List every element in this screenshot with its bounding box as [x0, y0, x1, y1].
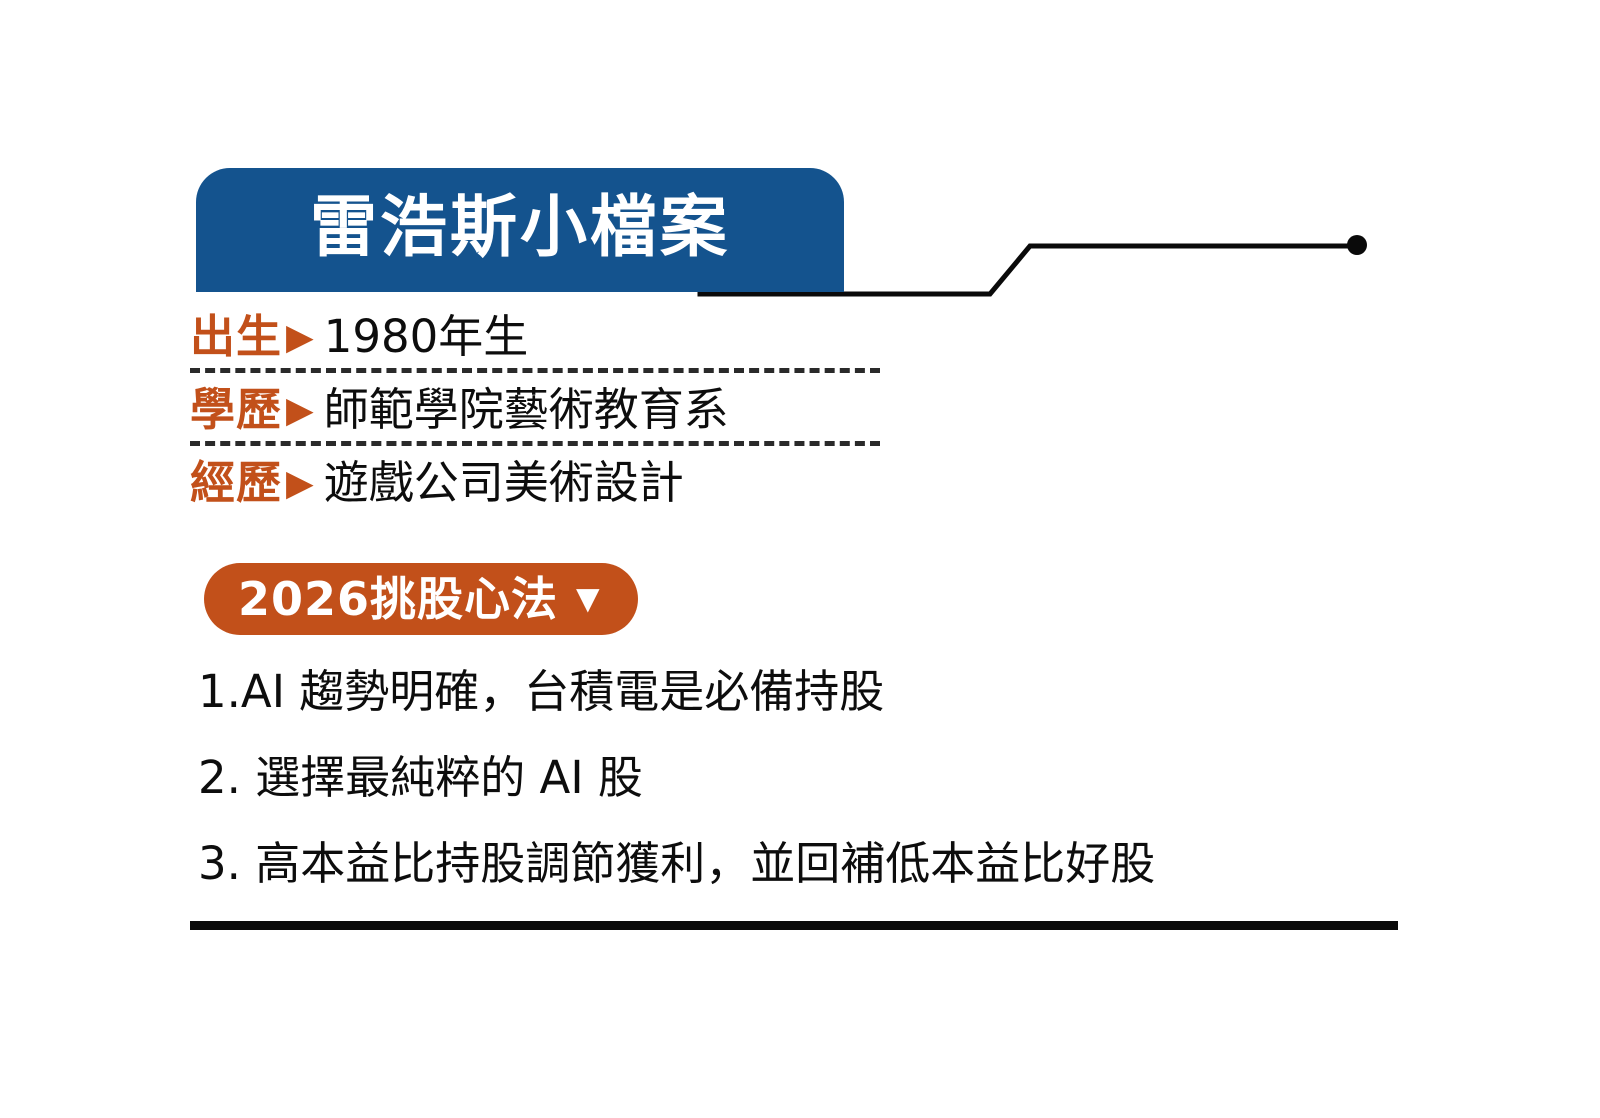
profile-label-experience: 經歷 — [190, 446, 282, 511]
triangle-right-icon: ▶ — [286, 389, 314, 431]
profile-row-birth: 出生 ▶ 1980年生 — [190, 300, 890, 368]
profile-row-experience: 經歷 ▶ 遊戲公司美術設計 — [190, 446, 890, 514]
section-badge-label: 2026挑股心法 — [238, 576, 558, 622]
list-item: 1.AI 趨勢明確，台積電是必備持股 — [198, 648, 1428, 734]
list-item: 3. 高本益比持股調節獲利，並回補低本益比好股 — [198, 820, 1428, 906]
profile-list: 出生 ▶ 1980年生 學歷 ▶ 師範學院藝術教育系 經歷 ▶ 遊戲公司美術設計 — [190, 300, 890, 514]
infographic-card: 雷浩斯小檔案 出生 ▶ 1980年生 學歷 ▶ 師範學院藝術教育系 經歷 ▶ 遊… — [0, 0, 1600, 1118]
triangle-right-icon: ▶ — [286, 316, 314, 358]
profile-row-education: 學歷 ▶ 師範學院藝術教育系 — [190, 373, 890, 441]
title-banner: 雷浩斯小檔案 — [196, 168, 844, 292]
profile-label-birth: 出生 — [190, 300, 282, 365]
section-badge: 2026挑股心法 ▼ — [204, 563, 638, 635]
profile-value-education: 師範學院藝術教育系 — [324, 373, 729, 438]
profile-label-education: 學歷 — [190, 373, 282, 438]
profile-value-experience: 遊戲公司美術設計 — [324, 446, 684, 511]
bottom-divider — [190, 921, 1398, 930]
connector-end-dot — [1347, 235, 1367, 255]
profile-value-birth: 1980年生 — [324, 300, 529, 365]
triangle-right-icon: ▶ — [286, 462, 314, 504]
list-item: 2. 選擇最純粹的 AI 股 — [198, 734, 1428, 820]
tips-list: 1.AI 趨勢明確，台積電是必備持股 2. 選擇最純粹的 AI 股 3. 高本益… — [198, 648, 1428, 906]
triangle-down-icon: ▼ — [568, 579, 608, 619]
page-title: 雷浩斯小檔案 — [310, 194, 730, 261]
